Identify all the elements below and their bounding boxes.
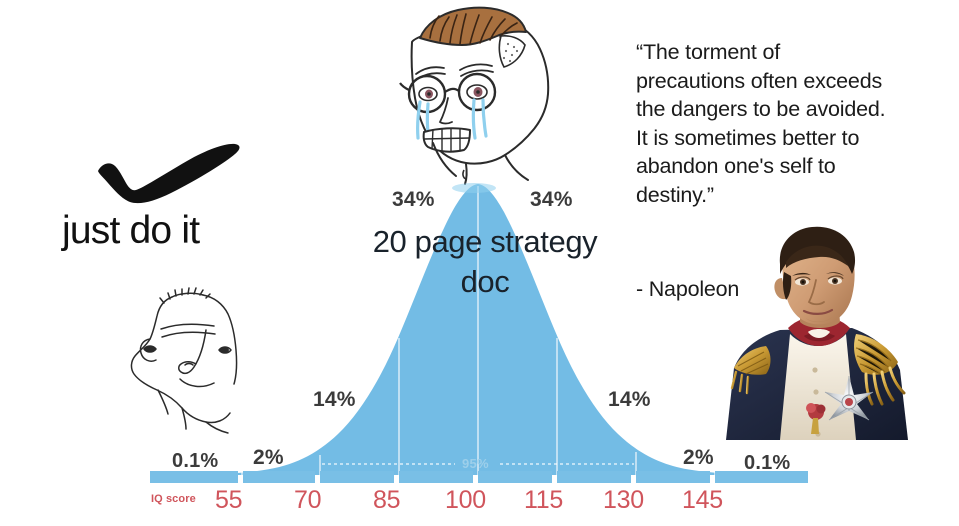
- axis-caption-iq-score: IQ score: [151, 493, 196, 505]
- axis-bar: [150, 471, 808, 483]
- crying-soyjak-figure: [398, 0, 560, 198]
- quote-attribution: - Napoleon: [636, 277, 739, 302]
- x-tick-5: 130: [603, 486, 644, 515]
- meme-canvas: 0.1% 2% 14% 34% 34% 14% 2% 0.1% 95% IQ s…: [0, 0, 959, 526]
- x-tick-4: 115: [524, 486, 563, 515]
- x-tick-2: 85: [373, 486, 400, 515]
- x-tick-3: 100: [445, 486, 486, 515]
- x-tick-1: 70: [294, 486, 321, 515]
- band-percent-1: 2%: [253, 446, 284, 470]
- band-percent-6: 2%: [683, 446, 714, 470]
- napoleon-portrait-figure: [716, 216, 916, 445]
- band-percent-7: 0.1%: [744, 452, 790, 475]
- napoleon-quote: “The torment of precautions often exceed…: [636, 38, 928, 210]
- quote-text: “The torment of precautions often exceed…: [636, 38, 928, 210]
- nike-swoosh-icon: [95, 143, 245, 205]
- band-percent-0: 0.1%: [172, 450, 218, 473]
- interval-95-label: 95%: [462, 456, 489, 471]
- nike-annotation: just do it: [62, 143, 302, 250]
- band-percent-5: 14%: [608, 388, 651, 412]
- x-tick-0: 55: [215, 486, 242, 515]
- nike-tagline: just do it: [62, 211, 302, 250]
- center-caption: 20 page strategy doc: [370, 222, 600, 301]
- x-tick-6: 145: [682, 486, 723, 515]
- band-percent-2: 14%: [313, 388, 356, 412]
- brainlet-wojak-figure: [128, 286, 250, 441]
